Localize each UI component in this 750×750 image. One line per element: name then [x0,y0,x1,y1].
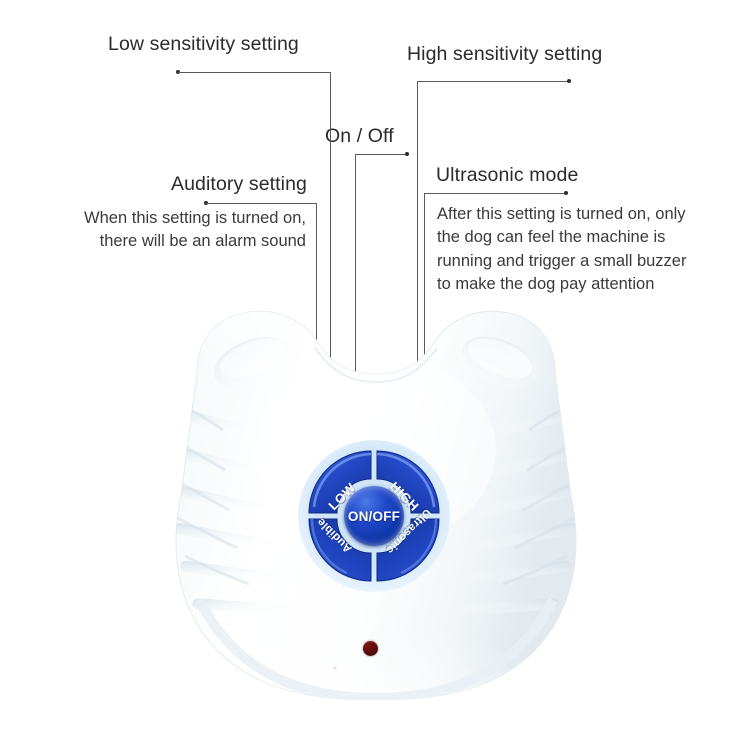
leader-h-low-sensitivity [178,72,330,73]
callout-label-auditory: Auditory setting [171,173,307,196]
leader-dot-ultrasonic [564,191,568,195]
leader-h-on-off [355,154,407,155]
callout-label-low-sensitivity: Low sensitivity setting [108,33,299,56]
callout-label-high-sensitivity: High sensitivity setting [407,43,602,66]
leader-dot-high-sensitivity [567,79,571,83]
callout-label-on-off: On / Off [325,125,394,148]
button-on-off-label: ON/OFF [348,509,400,524]
leader-h-auditory [206,203,316,204]
leader-dot-on-off [405,152,409,156]
infographic-canvas: Low sensitivity setting High sensitivity… [0,0,750,750]
button-on-off[interactable]: ON/OFF [344,486,404,546]
indicator-light [363,641,378,656]
callout-label-ultrasonic: Ultrasonic mode [436,164,578,187]
callout-desc-ultrasonic: After this setting is turned on, only th… [437,203,727,297]
leader-h-ultrasonic [424,193,566,194]
control-pad: LOW HIGH [307,449,441,583]
callout-desc-auditory: When this setting is turned on, there wi… [48,207,306,254]
leader-h-high-sensitivity [417,81,569,82]
